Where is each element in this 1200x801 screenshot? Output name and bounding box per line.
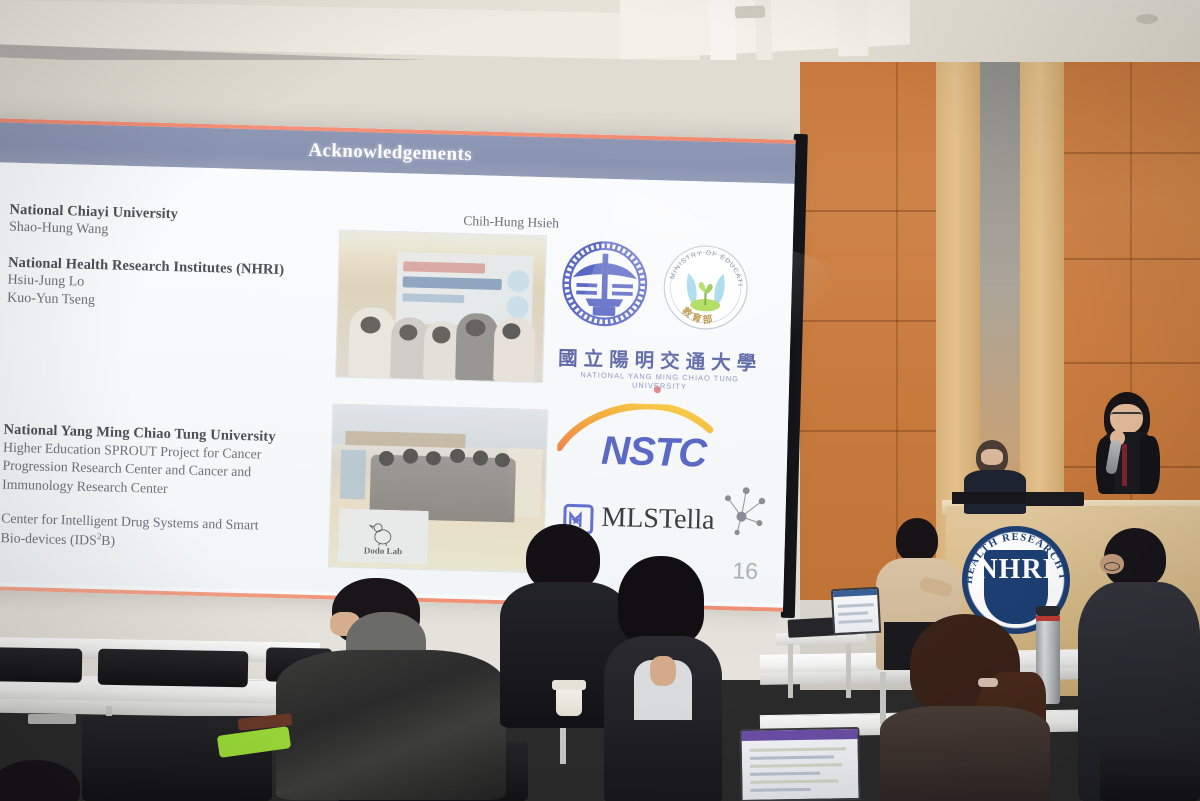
glasses-icon	[1111, 412, 1142, 419]
acknowledgement-list-lower: National Yang Ming Chiao Tung University…	[0, 421, 325, 556]
ceiling-fixture	[1136, 14, 1158, 24]
ceiling-light	[735, 5, 765, 18]
dodo-bird-icon	[368, 522, 399, 547]
wood-seam	[1064, 362, 1200, 364]
side-table-leg	[846, 644, 851, 698]
credit-name: Chih-Hung Hsieh	[463, 213, 559, 232]
chair-back	[98, 649, 249, 688]
audience-member	[0, 760, 100, 801]
chair-back	[0, 647, 82, 683]
chair-back	[1100, 740, 1200, 801]
laptop-screen	[739, 727, 860, 801]
cup-lid	[552, 680, 586, 690]
wood-seam	[1064, 258, 1200, 260]
panelist-laptop	[952, 492, 1026, 504]
audience-member	[604, 556, 722, 801]
nstc-logo: NSTC	[556, 402, 763, 484]
presenter-at-podium	[1078, 392, 1174, 528]
nycu-red-dot	[654, 386, 661, 393]
projection-screen: Acknowledgements National Chiayi Univers…	[0, 118, 796, 612]
ceiling-beam	[838, 0, 869, 56]
side-table-leg	[788, 644, 793, 698]
nycu-gear-icon	[556, 236, 653, 333]
lanyard	[1122, 444, 1127, 486]
ack-block: National Chiayi University Shao-Hung Wan…	[9, 201, 340, 246]
wood-seam	[800, 430, 936, 432]
dodo-lab-label: Dodo Lab	[364, 546, 403, 557]
wood-seam	[800, 210, 936, 212]
presentation-slide: Acknowledgements National Chiayi Univers…	[0, 118, 796, 612]
slide-number: 16	[732, 557, 758, 585]
hair-tie	[978, 678, 998, 687]
ministry-of-education-icon: MINISTRY OF EDUCATION 教育部	[661, 242, 751, 332]
lecture-hall-photo: Acknowledgements National Chiayi Univers…	[0, 0, 1200, 801]
slide-body: National Chiayi University Shao-Hung Wan…	[0, 162, 795, 604]
wood-seam	[800, 320, 936, 322]
conference-group-photo	[335, 230, 547, 384]
dodo-lab-logo: Dodo Lab Dodo Laboratory	[338, 508, 429, 564]
center-line-2-b: B)	[101, 532, 115, 547]
desk-item	[28, 714, 76, 724]
audience-member	[276, 578, 506, 801]
center-line-2-a: Bio-devices (IDS	[0, 530, 97, 548]
acknowledgement-list: National Chiayi University Shao-Hung Wan…	[6, 201, 339, 334]
dodo-lab-sublabel: Dodo Laboratory	[371, 556, 395, 561]
mlstella-network-icon	[715, 482, 774, 540]
nstc-wordmark: NSTC	[601, 429, 707, 477]
slide-title: Acknowledgements	[308, 140, 472, 166]
wood-seam	[1064, 152, 1200, 154]
ack-block: National Health Research Institutes (NHR…	[7, 254, 338, 317]
audience-member	[870, 614, 1056, 801]
glasses-icon	[1104, 562, 1120, 571]
